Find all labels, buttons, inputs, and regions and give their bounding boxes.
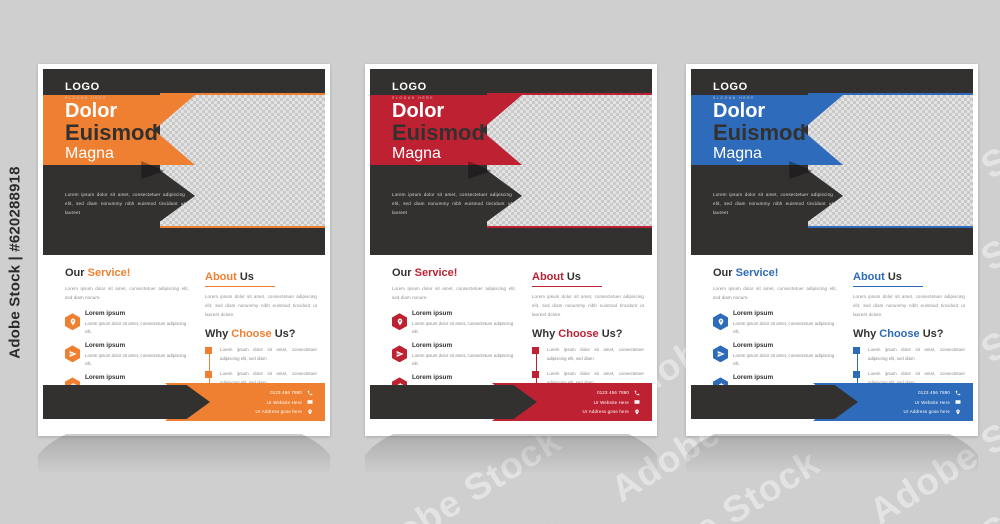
why-bullet-icon bbox=[532, 371, 539, 378]
service-item-title: Lorem ipsum bbox=[85, 310, 189, 317]
service-paragraph: Lorem ipsum dolor sit amet, consectetuer… bbox=[65, 285, 189, 302]
why-title: Why Choose Us? bbox=[205, 328, 317, 340]
why-item-text: Lorem ipsum dolor sit amet, consectetuer… bbox=[547, 346, 644, 363]
service-item-title: Lorem ipsum bbox=[412, 310, 516, 317]
about-title-accent: About bbox=[532, 271, 567, 283]
contact-website: Ur Website Here bbox=[267, 400, 302, 405]
about-title-accent: About bbox=[205, 271, 240, 283]
footer-dark-arrow bbox=[370, 385, 537, 419]
contact-address-row[interactable]: Ur Address gose here bbox=[583, 408, 640, 415]
map-marker-icon bbox=[306, 408, 313, 415]
contact-website: Ur Website Here bbox=[594, 400, 629, 405]
contact-phone: 0123 456 7890 bbox=[597, 390, 629, 395]
orange-flyer[interactable]: LOGO SLOGAN HERE Dolor Euismod Magna Lor… bbox=[38, 64, 330, 436]
service-title-plain: Our bbox=[65, 267, 88, 279]
flyer-body: Our Service! Lorem ipsum dolor sit amet,… bbox=[43, 255, 325, 431]
service-icon-wrap bbox=[392, 345, 407, 362]
service-item: Lorem ipsum Lorem ipsum dolor sit amet, … bbox=[65, 342, 189, 368]
service-item: Lorem ipsum Lorem ipsum dolor sit amet, … bbox=[713, 310, 837, 336]
service-title: Our Service! bbox=[65, 267, 189, 279]
contact-phone-row[interactable]: 0123 456 7890 bbox=[904, 389, 961, 396]
flyer-inner: LOGO SLOGAN HERE Dolor Euismod Magna Lor… bbox=[691, 69, 973, 431]
service-item: Lorem ipsum Lorem ipsum dolor sit amet, … bbox=[392, 310, 516, 336]
service-item-text: Lorem ipsum Lorem ipsum dolor sit amet, … bbox=[733, 310, 837, 336]
flyer-footer: 0123 456 7890 Ur Website Here Ur Address… bbox=[691, 383, 973, 421]
flyer-inner: LOGO SLOGAN HERE Dolor Euismod Magna Lor… bbox=[370, 69, 652, 431]
why-bullet-icon bbox=[853, 371, 860, 378]
why-title: Why Choose Us? bbox=[532, 328, 644, 340]
service-item-title: Lorem ipsum bbox=[733, 310, 837, 317]
location-pin-icon bbox=[65, 313, 80, 330]
service-title-plain: Our bbox=[392, 267, 415, 279]
about-paragraph: Lorem ipsum dolor sit amet, consectetuer… bbox=[853, 293, 965, 319]
why-item-text: Lorem ipsum dolor sit amet, consectetuer… bbox=[868, 346, 965, 363]
contact-block: 0123 456 7890 Ur Website Here Ur Address… bbox=[583, 389, 640, 418]
map-marker-icon bbox=[633, 408, 640, 415]
flyer-header: LOGO SLOGAN HERE Dolor Euismod Magna Lor… bbox=[691, 69, 973, 255]
about-title-underline bbox=[532, 286, 602, 287]
footer-dark-arrow bbox=[43, 385, 210, 419]
flyer-header: LOGO SLOGAN HERE Dolor Euismod Magna Lor… bbox=[370, 69, 652, 255]
about-title: About Us bbox=[532, 271, 581, 285]
service-icon-wrap bbox=[65, 345, 80, 362]
why-title: Why Choose Us? bbox=[853, 328, 965, 340]
flyer-footer: 0123 456 7890 Ur Website Here Ur Address… bbox=[370, 383, 652, 421]
service-item-title: Lorem ipsum bbox=[733, 374, 837, 381]
service-item: Lorem ipsum Lorem ipsum dolor sit amet, … bbox=[65, 310, 189, 336]
logo-name: LOGO bbox=[65, 82, 107, 93]
headline: Dolor Euismod Magna bbox=[713, 101, 806, 162]
phone-icon bbox=[306, 389, 313, 396]
header-intro-text: Lorem ipsum dolor sit amet, consectetuer… bbox=[713, 191, 833, 218]
contact-block: 0123 456 7890 Ur Website Here Ur Address… bbox=[256, 389, 313, 418]
about-title-underline bbox=[205, 286, 275, 287]
service-item-desc: Lorem ipsum dolor sit amet, consectetuer… bbox=[733, 320, 837, 337]
why-title-c: Us? bbox=[923, 328, 944, 340]
contact-website: Ur Website Here bbox=[915, 400, 950, 405]
header-intro-text: Lorem ipsum dolor sit amet, consectetuer… bbox=[392, 191, 512, 218]
why-bullet-icon bbox=[205, 371, 212, 378]
contact-phone-row[interactable]: 0123 456 7890 bbox=[583, 389, 640, 396]
header-intro-text: Lorem ipsum dolor sit amet, consectetuer… bbox=[65, 191, 185, 218]
service-title-accent: Service! bbox=[736, 267, 779, 279]
about-title-plain: Us bbox=[567, 271, 581, 283]
flyer-stage: LOGO SLOGAN HERE Dolor Euismod Magna Lor… bbox=[0, 0, 1000, 524]
photo-rule-bottom bbox=[160, 226, 325, 228]
headline-line2: Euismod bbox=[65, 122, 158, 144]
logo-name: LOGO bbox=[713, 82, 755, 93]
paper-plane-icon bbox=[713, 345, 728, 362]
service-item-text: Lorem ipsum Lorem ipsum dolor sit amet, … bbox=[85, 342, 189, 368]
headline-line2: Euismod bbox=[392, 122, 485, 144]
why-item-text: Lorem ipsum dolor sit amet, consectetuer… bbox=[220, 346, 317, 363]
about-title: About Us bbox=[853, 271, 902, 285]
service-title-accent: Service! bbox=[415, 267, 458, 279]
service-title-accent: Service! bbox=[88, 267, 131, 279]
headline: Dolor Euismod Magna bbox=[392, 101, 485, 162]
about-paragraph: Lorem ipsum dolor sit amet, consectetuer… bbox=[532, 293, 644, 319]
contact-website-row[interactable]: Ur Website Here bbox=[583, 399, 640, 406]
service-item-desc: Lorem ipsum dolor sit amet, consectetuer… bbox=[85, 352, 189, 369]
contact-website-row[interactable]: Ur Website Here bbox=[904, 399, 961, 406]
service-icon-wrap bbox=[392, 313, 407, 330]
about-paragraph: Lorem ipsum dolor sit amet, consectetuer… bbox=[205, 293, 317, 319]
service-title: Our Service! bbox=[713, 267, 837, 279]
service-item-desc: Lorem ipsum dolor sit amet, consectetuer… bbox=[85, 320, 189, 337]
headline: Dolor Euismod Magna bbox=[65, 101, 158, 162]
service-icon-wrap bbox=[713, 345, 728, 362]
headline-line1: Dolor bbox=[65, 101, 158, 121]
headline-line3: Magna bbox=[65, 146, 158, 162]
why-title-c: Us? bbox=[275, 328, 296, 340]
contact-phone-row[interactable]: 0123 456 7890 bbox=[256, 389, 313, 396]
photo-rule-bottom bbox=[808, 226, 973, 228]
service-item-desc: Lorem ipsum dolor sit amet, consectetuer… bbox=[733, 352, 837, 369]
flyer-inner: LOGO SLOGAN HERE Dolor Euismod Magna Lor… bbox=[43, 69, 325, 431]
service-item-title: Lorem ipsum bbox=[85, 374, 189, 381]
service-item-title: Lorem ipsum bbox=[412, 342, 516, 349]
why-title-a: Why bbox=[532, 328, 558, 340]
service-item-title: Lorem ipsum bbox=[733, 342, 837, 349]
service-item: Lorem ipsum Lorem ipsum dolor sit amet, … bbox=[713, 342, 837, 368]
headline-line3: Magna bbox=[392, 146, 485, 162]
service-paragraph: Lorem ipsum dolor sit amet, consectetuer… bbox=[713, 285, 837, 302]
about-title: About Us bbox=[205, 271, 254, 285]
flyer-footer: 0123 456 7890 Ur Website Here Ur Address… bbox=[43, 383, 325, 421]
why-bullet-icon bbox=[532, 347, 539, 354]
phone-icon bbox=[633, 389, 640, 396]
service-item-title: Lorem ipsum bbox=[85, 342, 189, 349]
photo-rule-top bbox=[808, 93, 973, 95]
contact-website-row[interactable]: Ur Website Here bbox=[256, 399, 313, 406]
photo-rule-top bbox=[160, 93, 325, 95]
service-title-plain: Our bbox=[713, 267, 736, 279]
about-title-plain: Us bbox=[240, 271, 254, 283]
envelope-icon bbox=[306, 399, 313, 406]
why-bullet-icon bbox=[853, 347, 860, 354]
why-title-a: Why bbox=[205, 328, 231, 340]
phone-icon bbox=[954, 389, 961, 396]
envelope-icon bbox=[633, 399, 640, 406]
photo-rule-bottom bbox=[487, 226, 652, 228]
contact-address: Ur Address gose here bbox=[904, 409, 950, 414]
service-title: Our Service! bbox=[392, 267, 516, 279]
flyer-shadow-red bbox=[365, 434, 657, 478]
service-item: Lorem ipsum Lorem ipsum dolor sit amet, … bbox=[392, 342, 516, 368]
about-title-accent: About bbox=[853, 271, 888, 283]
contact-block: 0123 456 7890 Ur Website Here Ur Address… bbox=[904, 389, 961, 418]
why-title-accent: Choose bbox=[879, 328, 922, 340]
service-icon-wrap bbox=[65, 313, 80, 330]
contact-address-row[interactable]: Ur Address gose here bbox=[904, 408, 961, 415]
headline-line2: Euismod bbox=[713, 122, 806, 144]
flyer-header: LOGO SLOGAN HERE Dolor Euismod Magna Lor… bbox=[43, 69, 325, 255]
paper-plane-icon bbox=[392, 345, 407, 362]
logo-name: LOGO bbox=[392, 82, 434, 93]
why-item: Lorem ipsum dolor sit amet, consectetuer… bbox=[547, 346, 644, 363]
service-item-title: Lorem ipsum bbox=[412, 374, 516, 381]
why-title-accent: Choose bbox=[558, 328, 601, 340]
flyer-shadow-blue bbox=[686, 434, 978, 478]
service-item-text: Lorem ipsum Lorem ipsum dolor sit amet, … bbox=[85, 310, 189, 336]
flyer-body: Our Service! Lorem ipsum dolor sit amet,… bbox=[691, 255, 973, 431]
flyer-shadow-orange bbox=[38, 434, 330, 478]
map-marker-icon bbox=[954, 408, 961, 415]
service-item-desc: Lorem ipsum dolor sit amet, consectetuer… bbox=[412, 320, 516, 337]
service-item-desc: Lorem ipsum dolor sit amet, consectetuer… bbox=[412, 352, 516, 369]
about-title-underline bbox=[853, 286, 923, 287]
headline-line1: Dolor bbox=[392, 101, 485, 121]
why-title-c: Us? bbox=[602, 328, 623, 340]
location-pin-icon bbox=[392, 313, 407, 330]
photo-rule-top bbox=[487, 93, 652, 95]
contact-phone: 0123 456 7890 bbox=[270, 390, 302, 395]
location-pin-icon bbox=[713, 313, 728, 330]
contact-phone: 0123 456 7890 bbox=[918, 390, 950, 395]
flyer-body: Our Service! Lorem ipsum dolor sit amet,… bbox=[370, 255, 652, 431]
service-icon-wrap bbox=[713, 313, 728, 330]
headline-line3: Magna bbox=[713, 146, 806, 162]
service-item-text: Lorem ipsum Lorem ipsum dolor sit amet, … bbox=[412, 310, 516, 336]
paper-plane-icon bbox=[65, 345, 80, 362]
logo[interactable]: LOGO SLOGAN HERE bbox=[392, 82, 434, 100]
red-flyer[interactable]: LOGO SLOGAN HERE Dolor Euismod Magna Lor… bbox=[365, 64, 657, 436]
service-item-text: Lorem ipsum Lorem ipsum dolor sit amet, … bbox=[733, 342, 837, 368]
why-item: Lorem ipsum dolor sit amet, consectetuer… bbox=[868, 346, 965, 363]
service-item-text: Lorem ipsum Lorem ipsum dolor sit amet, … bbox=[412, 342, 516, 368]
why-title-a: Why bbox=[853, 328, 879, 340]
contact-address: Ur Address gose here bbox=[256, 409, 302, 414]
logo[interactable]: LOGO SLOGAN HERE bbox=[65, 82, 107, 100]
why-title-accent: Choose bbox=[231, 328, 274, 340]
contact-address: Ur Address gose here bbox=[583, 409, 629, 414]
about-title-plain: Us bbox=[888, 271, 902, 283]
service-paragraph: Lorem ipsum dolor sit amet, consectetuer… bbox=[392, 285, 516, 302]
footer-dark-arrow bbox=[691, 385, 858, 419]
blue-flyer[interactable]: LOGO SLOGAN HERE Dolor Euismod Magna Lor… bbox=[686, 64, 978, 436]
why-bullet-icon bbox=[205, 347, 212, 354]
why-item: Lorem ipsum dolor sit amet, consectetuer… bbox=[220, 346, 317, 363]
contact-address-row[interactable]: Ur Address gose here bbox=[256, 408, 313, 415]
headline-line1: Dolor bbox=[713, 101, 806, 121]
envelope-icon bbox=[954, 399, 961, 406]
logo[interactable]: LOGO SLOGAN HERE bbox=[713, 82, 755, 100]
